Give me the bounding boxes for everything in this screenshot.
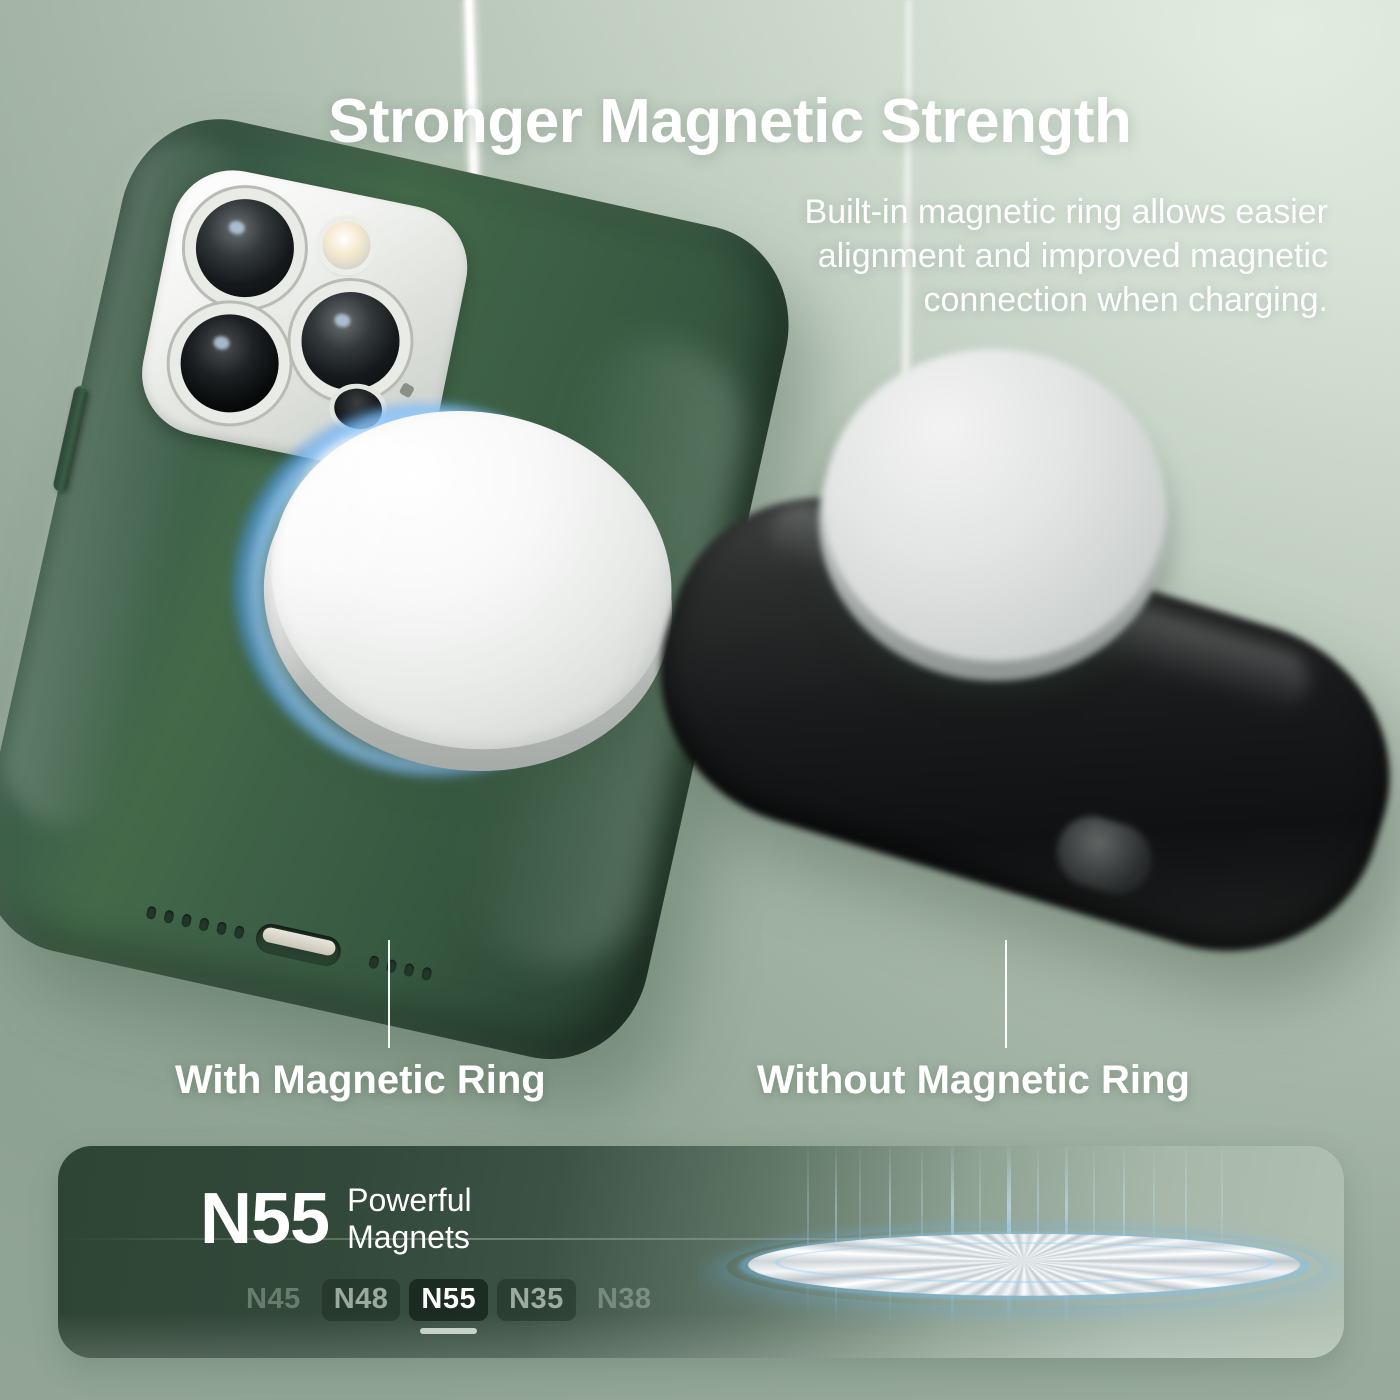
caption-with-magnetic-ring: With Magnetic Ring: [175, 1058, 546, 1103]
camera-lens-wide-icon: [187, 190, 303, 306]
speaker-hole: [233, 925, 245, 940]
puck-face: [244, 380, 698, 781]
usb-c-port-icon: [253, 921, 343, 969]
microphone-icon: [399, 382, 415, 398]
pointer-line-left: [388, 940, 390, 1048]
camera-flash-icon: [318, 217, 375, 274]
phone-black-case: [594, 458, 1400, 1091]
speaker-hole: [146, 906, 158, 921]
pointer-line-right: [1005, 940, 1007, 1048]
camera-module-icon-blurred: [1048, 808, 1160, 903]
speaker-hole: [403, 963, 415, 978]
grade-chip-n55-label: N55: [421, 1283, 476, 1315]
phone-bottom-ports: [85, 882, 524, 1018]
grade-chip-n48[interactable]: N48: [322, 1279, 401, 1321]
magnet-ring-icon: [698, 1146, 1344, 1358]
magnet-grade-title-line1: Powerful: [347, 1182, 472, 1219]
magnet-grade-title-line2: Magnets: [347, 1219, 472, 1256]
magsafe-puck-icon-right: [811, 340, 1178, 688]
grade-chip-n45[interactable]: N45: [234, 1279, 313, 1321]
grade-chip-n38[interactable]: N38: [585, 1279, 664, 1321]
speaker-hole: [421, 967, 433, 982]
magnet-grade-panel: N55 Powerful Magnets N45 N48 N55 N35 N38: [58, 1146, 1344, 1358]
magnet-grade-title: Powerful Magnets: [347, 1182, 472, 1256]
magnet-grade-value: N55: [200, 1185, 329, 1254]
grade-chip-n35[interactable]: N35: [497, 1279, 576, 1321]
speaker-hole: [181, 913, 193, 928]
magnet-grade-headline: N55 Powerful Magnets: [200, 1182, 472, 1256]
camera-lens-ultrawide-icon: [172, 306, 288, 422]
speaker-hole: [198, 917, 210, 932]
product-feature-image: Stronger Magnetic Strength Built-in magn…: [0, 0, 1400, 1400]
speaker-hole: [163, 909, 175, 924]
caption-without-magnetic-ring: Without Magnetic Ring: [757, 1058, 1190, 1103]
speaker-hole: [216, 921, 228, 936]
grade-chip-active-underline: [420, 1328, 477, 1334]
grade-chip-n55[interactable]: N55: [409, 1279, 488, 1321]
magnet-grade-selector[interactable]: N45 N48 N55 N35 N38: [234, 1279, 664, 1321]
magsafe-puck-icon-left: [238, 379, 703, 797]
magnet-ring-3d: [712, 1234, 1336, 1296]
page-title: Stronger Magnetic Strength: [328, 90, 1328, 153]
speaker-hole: [368, 955, 380, 970]
